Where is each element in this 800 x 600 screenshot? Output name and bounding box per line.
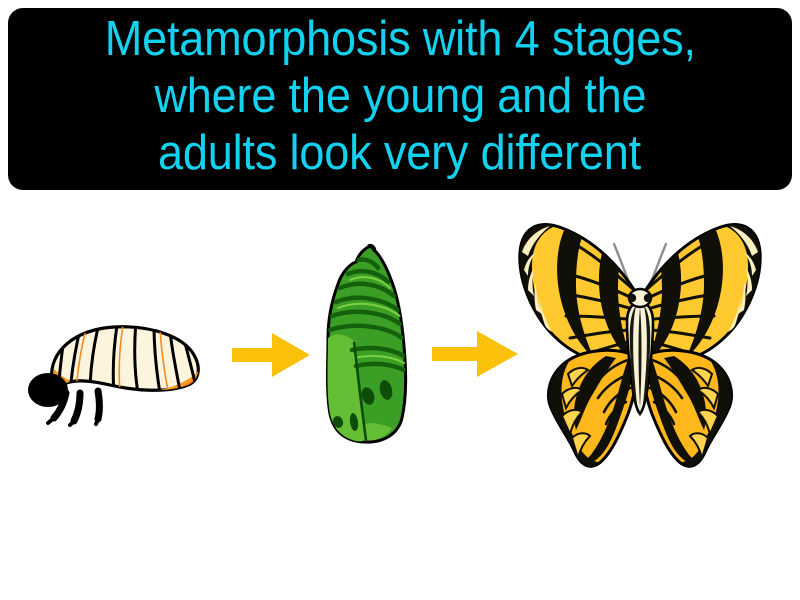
chrysalis-svg [312,242,422,447]
butterfly-hindwing-left [545,350,637,467]
lifecycle-illustration [0,200,800,600]
butterfly-svg [510,218,770,480]
definition-line-1: Metamorphosis with 4 stages, [104,11,695,68]
butterfly-adult-illustration [510,218,770,480]
right-arrow-icon [432,328,520,380]
chrysalis-pupa-illustration [312,242,422,447]
butterfly-eye-left [628,294,636,302]
caterpillar-svg [18,305,218,425]
arrow-pupa-to-adult [432,328,520,380]
right-arrow-icon [232,330,312,380]
caterpillar-larva-illustration [18,305,218,425]
arrow-larva-to-pupa [232,330,312,380]
butterfly-eye-right [644,294,652,302]
definition-card: Metamorphosis with 4 stages, where the y… [0,0,800,600]
definition-line-3: adults look very different [158,125,641,182]
definition-banner: Metamorphosis with 4 stages, where the y… [8,8,792,190]
butterfly-forewing-right [642,222,764,362]
butterfly-forewing-left [516,222,638,362]
definition-line-2: where the young and the [154,68,646,125]
butterfly-hindwing-right [643,350,735,467]
